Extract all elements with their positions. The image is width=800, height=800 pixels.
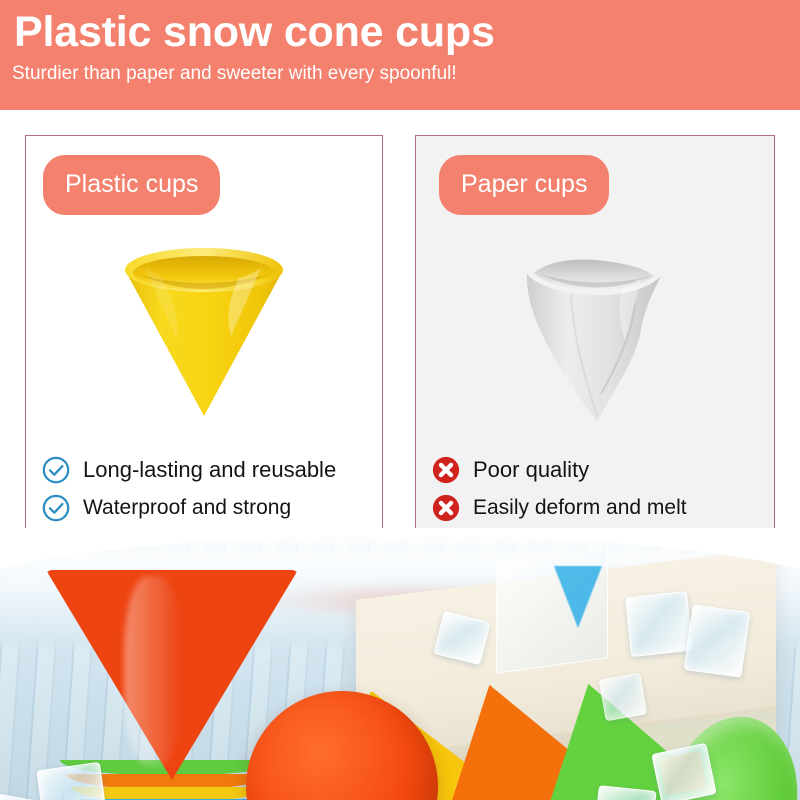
feature-label: Waterproof and strong bbox=[83, 495, 291, 521]
x-circle-icon bbox=[431, 493, 461, 523]
page-subtitle: Sturdier than paper and sweeter with eve… bbox=[12, 62, 457, 86]
white-cone-cup-icon bbox=[515, 244, 675, 429]
panel-badge-plastic: Plastic cups bbox=[43, 155, 220, 215]
ice-cube bbox=[684, 604, 751, 677]
paper-cup-illustration bbox=[416, 244, 774, 424]
feature-label: Long-lasting and reusable bbox=[83, 457, 336, 483]
feature-list-plastic: Long-lasting and reusable Waterproof and… bbox=[26, 451, 382, 527]
photo-clip-region bbox=[0, 536, 800, 800]
feature-row: Poor quality bbox=[416, 451, 774, 489]
panel-badge-paper: Paper cups bbox=[439, 155, 609, 215]
ice-cube bbox=[599, 673, 648, 722]
feature-row: Long-lasting and reusable bbox=[26, 451, 382, 489]
feature-row: Easily deform and melt bbox=[416, 489, 774, 527]
feature-row: Waterproof and strong bbox=[26, 489, 382, 527]
page-title: Plastic snow cone cups bbox=[14, 6, 495, 58]
ice-cube bbox=[651, 743, 717, 800]
comparison-panel-paper: Paper cups bbox=[415, 135, 775, 550]
x-circle-icon bbox=[431, 455, 461, 485]
ice-cube bbox=[625, 591, 693, 657]
comparison-panel-plastic: Plastic cups bbox=[25, 135, 383, 550]
feature-label: Easily deform and melt bbox=[473, 495, 687, 521]
infographic-page: Plastic snow cone cups Sturdier than pap… bbox=[0, 0, 800, 800]
header-banner: Plastic snow cone cups Sturdier than pap… bbox=[0, 0, 800, 110]
yellow-cone-cup-icon bbox=[119, 244, 289, 419]
feature-list-paper: Poor quality Easily deform and melt bbox=[416, 451, 774, 527]
check-circle-icon bbox=[41, 455, 71, 485]
blue-cone-cup bbox=[554, 566, 602, 628]
plastic-cup-illustration bbox=[26, 244, 382, 424]
check-circle-icon bbox=[41, 493, 71, 523]
feature-label: Poor quality bbox=[473, 457, 589, 483]
product-lifestyle-photo bbox=[0, 528, 800, 800]
